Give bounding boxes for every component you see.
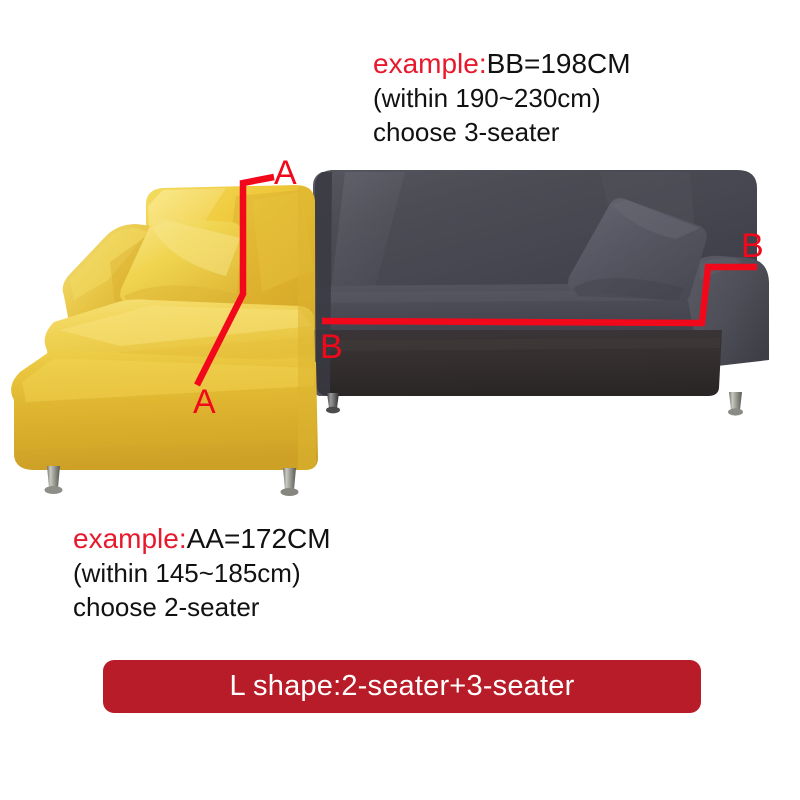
shape-summary-label: L shape:2-seater+3-seater	[230, 670, 575, 703]
callout-bb-3seater: example:BB=198CM (within 190~230cm) choo…	[373, 46, 631, 150]
gray-sofa-leg-right	[728, 392, 743, 416]
measure-label-a-top: A	[274, 156, 297, 190]
gray-sofa-3-seater	[313, 170, 769, 416]
callout-bb-recommendation: choose 3-seater	[373, 116, 631, 150]
callout-aa-recommendation: choose 2-seater	[73, 591, 331, 625]
callout-aa-range: (within 145~185cm)	[73, 557, 331, 591]
yellow-sofa-leg-left	[45, 466, 63, 494]
callout-aa-2seater: example:AA=172CM (within 145~185cm) choo…	[73, 521, 331, 625]
measure-label-a-bottom: A	[193, 385, 216, 419]
callout-bb-range: (within 190~230cm)	[373, 82, 631, 116]
callout-aa-line1: example:AA=172CM	[73, 521, 331, 557]
gray-sofa-leg-left	[326, 393, 340, 413]
callout-aa-value: AA=172CM	[187, 523, 331, 554]
callout-aa-keyword: example:	[73, 523, 187, 554]
yellow-chaise-2-seater	[11, 185, 318, 496]
infographic-canvas: A A B B example:BB=198CM (within 190~230…	[0, 0, 800, 800]
callout-bb-line1: example:BB=198CM	[373, 46, 631, 82]
yellow-sofa-leg-right	[281, 468, 299, 496]
callout-bb-value: BB=198CM	[487, 48, 631, 79]
shape-summary-banner: L shape:2-seater+3-seater	[103, 660, 701, 713]
measure-label-b-left: B	[320, 330, 343, 364]
callout-bb-keyword: example:	[373, 48, 487, 79]
measure-label-b-right: B	[741, 229, 764, 263]
